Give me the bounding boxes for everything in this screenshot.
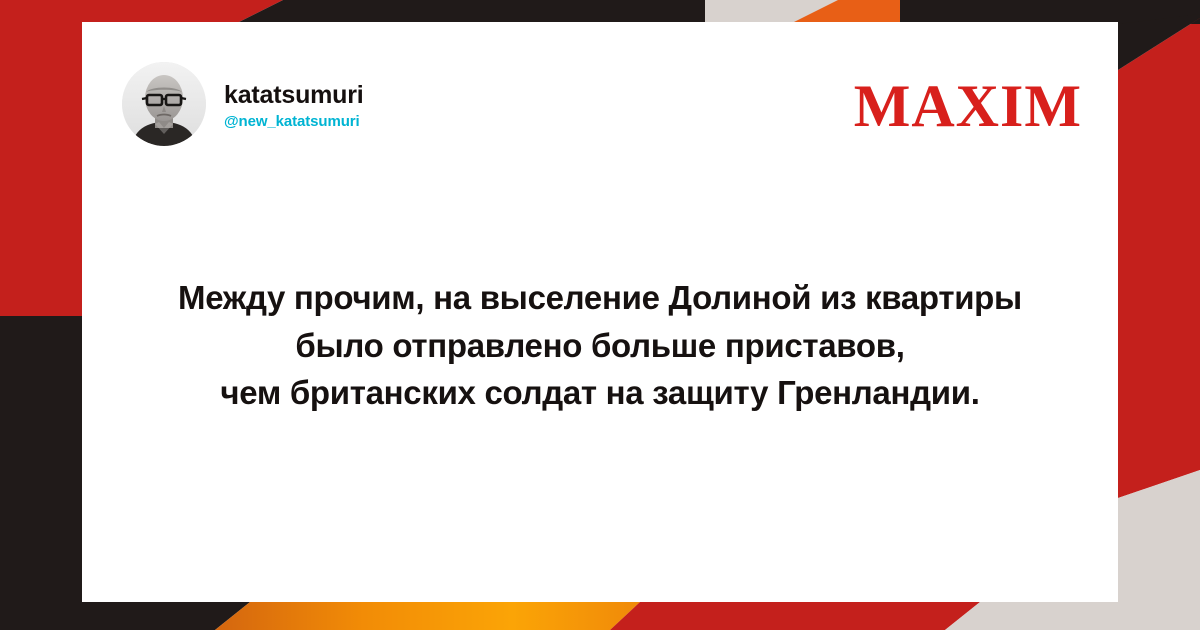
bg-bottom-right-corner <box>1118 596 1200 630</box>
social-quote-card-image: katatsumuri @new_katatsumuri MAXIM Между… <box>0 0 1200 630</box>
bg-top-red-wedge <box>0 0 283 24</box>
maxim-logo: MAXIM <box>854 62 1082 136</box>
avatar-photo-icon <box>122 62 206 146</box>
bg-top-dark-band <box>235 0 705 24</box>
bg-right-red-band <box>1118 18 1200 498</box>
quote-line: Между прочим, на выселение Долиной из кв… <box>134 274 1066 322</box>
quote-body: Между прочим, на выселение Долиной из кв… <box>134 274 1066 417</box>
avatar <box>122 62 206 146</box>
author-block: katatsumuri @new_katatsumuri <box>122 62 364 146</box>
bg-bottom-dark-wedge <box>0 602 250 630</box>
quote-line: было отправлено больше приставов, <box>134 322 1066 370</box>
quote-line: чем британских солдат на защиту Гренланд… <box>134 369 1066 417</box>
author-handle: @new_katatsumuri <box>224 114 364 131</box>
bg-left-dark-block <box>0 316 82 602</box>
author-name: katatsumuri <box>224 82 364 110</box>
quote-card: katatsumuri @new_katatsumuri MAXIM Между… <box>82 22 1118 600</box>
bg-bottom-red-band <box>610 602 980 630</box>
author-text: katatsumuri @new_katatsumuri <box>224 78 364 130</box>
card-header: katatsumuri @new_katatsumuri MAXIM <box>122 62 1082 154</box>
bg-left-red-block <box>0 24 82 316</box>
bg-bottom-orange-band <box>215 602 640 630</box>
